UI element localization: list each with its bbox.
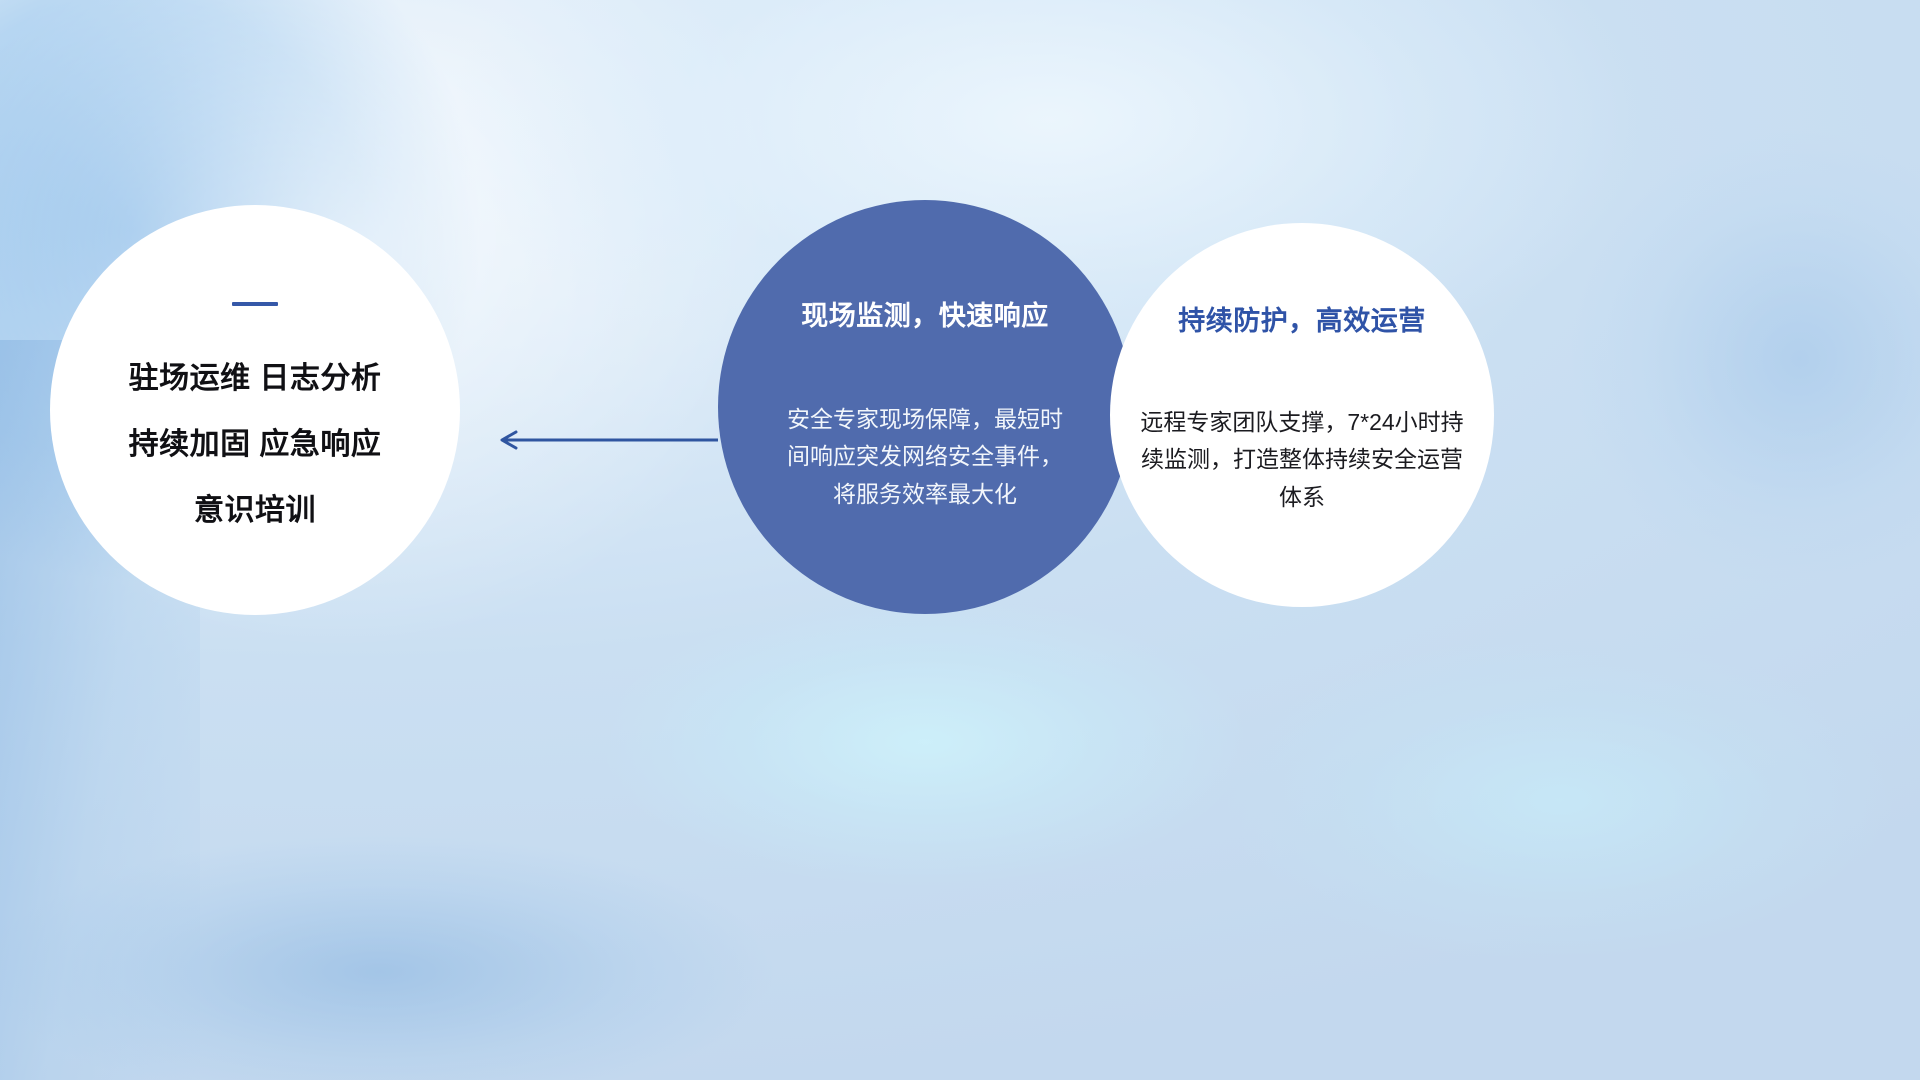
slide-canvas: 驻场运维 日志分析 持续加固 应急响应 意识培训 现场监测，快速响应 安全专家现… [0, 0, 1920, 1080]
capability-line-3: 意识培训 [194, 496, 316, 526]
capability-line-2: 持续加固 应急响应 [129, 430, 382, 460]
left-circle-content: 驻场运维 日志分析 持续加固 应急响应 意识培训 [129, 302, 382, 526]
right-circle-content: 持续防护，高效运营 远程专家团队支撑，7*24小时持续监测，打造整体持续安全运营… [1127, 223, 1477, 516]
continuous-protection-title: 持续防护，高效运营 [1178, 299, 1426, 338]
middle-circle-content: 现场监测，快速响应 安全专家现场保障，最短时间响应突发网络安全事件，将服务效率最… [760, 200, 1090, 513]
background-cyan-glow-right [1150, 600, 1920, 1080]
capability-circle-left[interactable]: 驻场运维 日志分析 持续加固 应急响应 意识培训 [50, 205, 460, 615]
continuous-protection-body: 远程专家团队支撑，7*24小时持续监测，打造整体持续安全运营体系 [1132, 404, 1472, 516]
onsite-monitoring-circle[interactable]: 现场监测，快速响应 安全专家现场保障，最短时间响应突发网络安全事件，将服务效率最… [718, 200, 1132, 614]
onsite-monitoring-title: 现场监测，快速响应 [801, 294, 1049, 333]
capability-line-1: 驻场运维 日志分析 [129, 364, 382, 394]
onsite-monitoring-body: 安全专家现场保障，最短时间响应突发网络安全事件，将服务效率最大化 [776, 401, 1074, 513]
continuous-protection-circle[interactable]: 持续防护，高效运营 远程专家团队支撑，7*24小时持续监测，打造整体持续安全运营… [1110, 223, 1494, 607]
arrow-left-icon [490, 425, 720, 455]
horizontal-dash-icon [232, 302, 278, 306]
